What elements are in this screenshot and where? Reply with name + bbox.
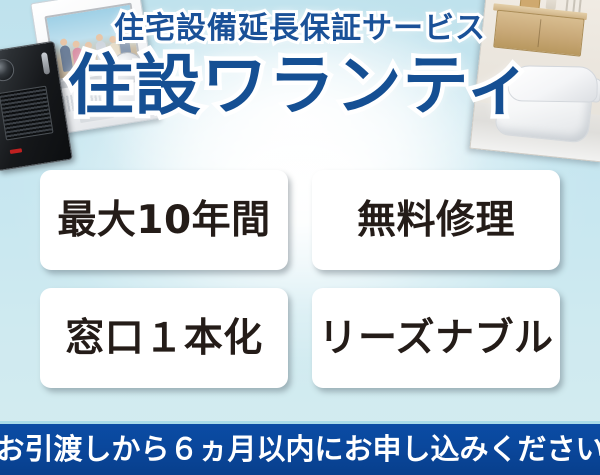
promotional-banner: 住宅設備延長保証サービス 住設ワランティ 最大10年間 無料修理 窓口１本化 リ…: [0, 0, 600, 475]
intercom-indicator: [10, 148, 22, 154]
feature-label-single-contact: 窓口１本化: [65, 319, 263, 358]
headline-block: 住宅設備延長保証サービス 住設ワランティ: [0, 14, 600, 119]
feature-box-reasonable: リーズナブル: [312, 288, 560, 388]
feature-label-free-repair: 無料修理: [357, 201, 515, 240]
banner-title: 住設ワランティ: [0, 52, 600, 119]
feature-label-duration: 最大10年間: [57, 201, 270, 240]
feature-label-reasonable: リーズナブル: [318, 319, 553, 358]
cta-bar: お引渡しから６ヵ月以内にお申し込みください: [0, 421, 600, 475]
feature-box-duration: 最大10年間: [40, 170, 288, 270]
cta-text: お引渡しから６ヵ月以内にお申し込みください: [0, 435, 600, 464]
feature-box-free-repair: 無料修理: [312, 170, 560, 270]
feature-box-single-contact: 窓口１本化: [40, 288, 288, 388]
banner-subtitle: 住宅設備延長保証サービス: [0, 14, 600, 44]
feature-box-grid: 最大10年間 無料修理 窓口１本化 リーズナブル: [40, 170, 560, 388]
